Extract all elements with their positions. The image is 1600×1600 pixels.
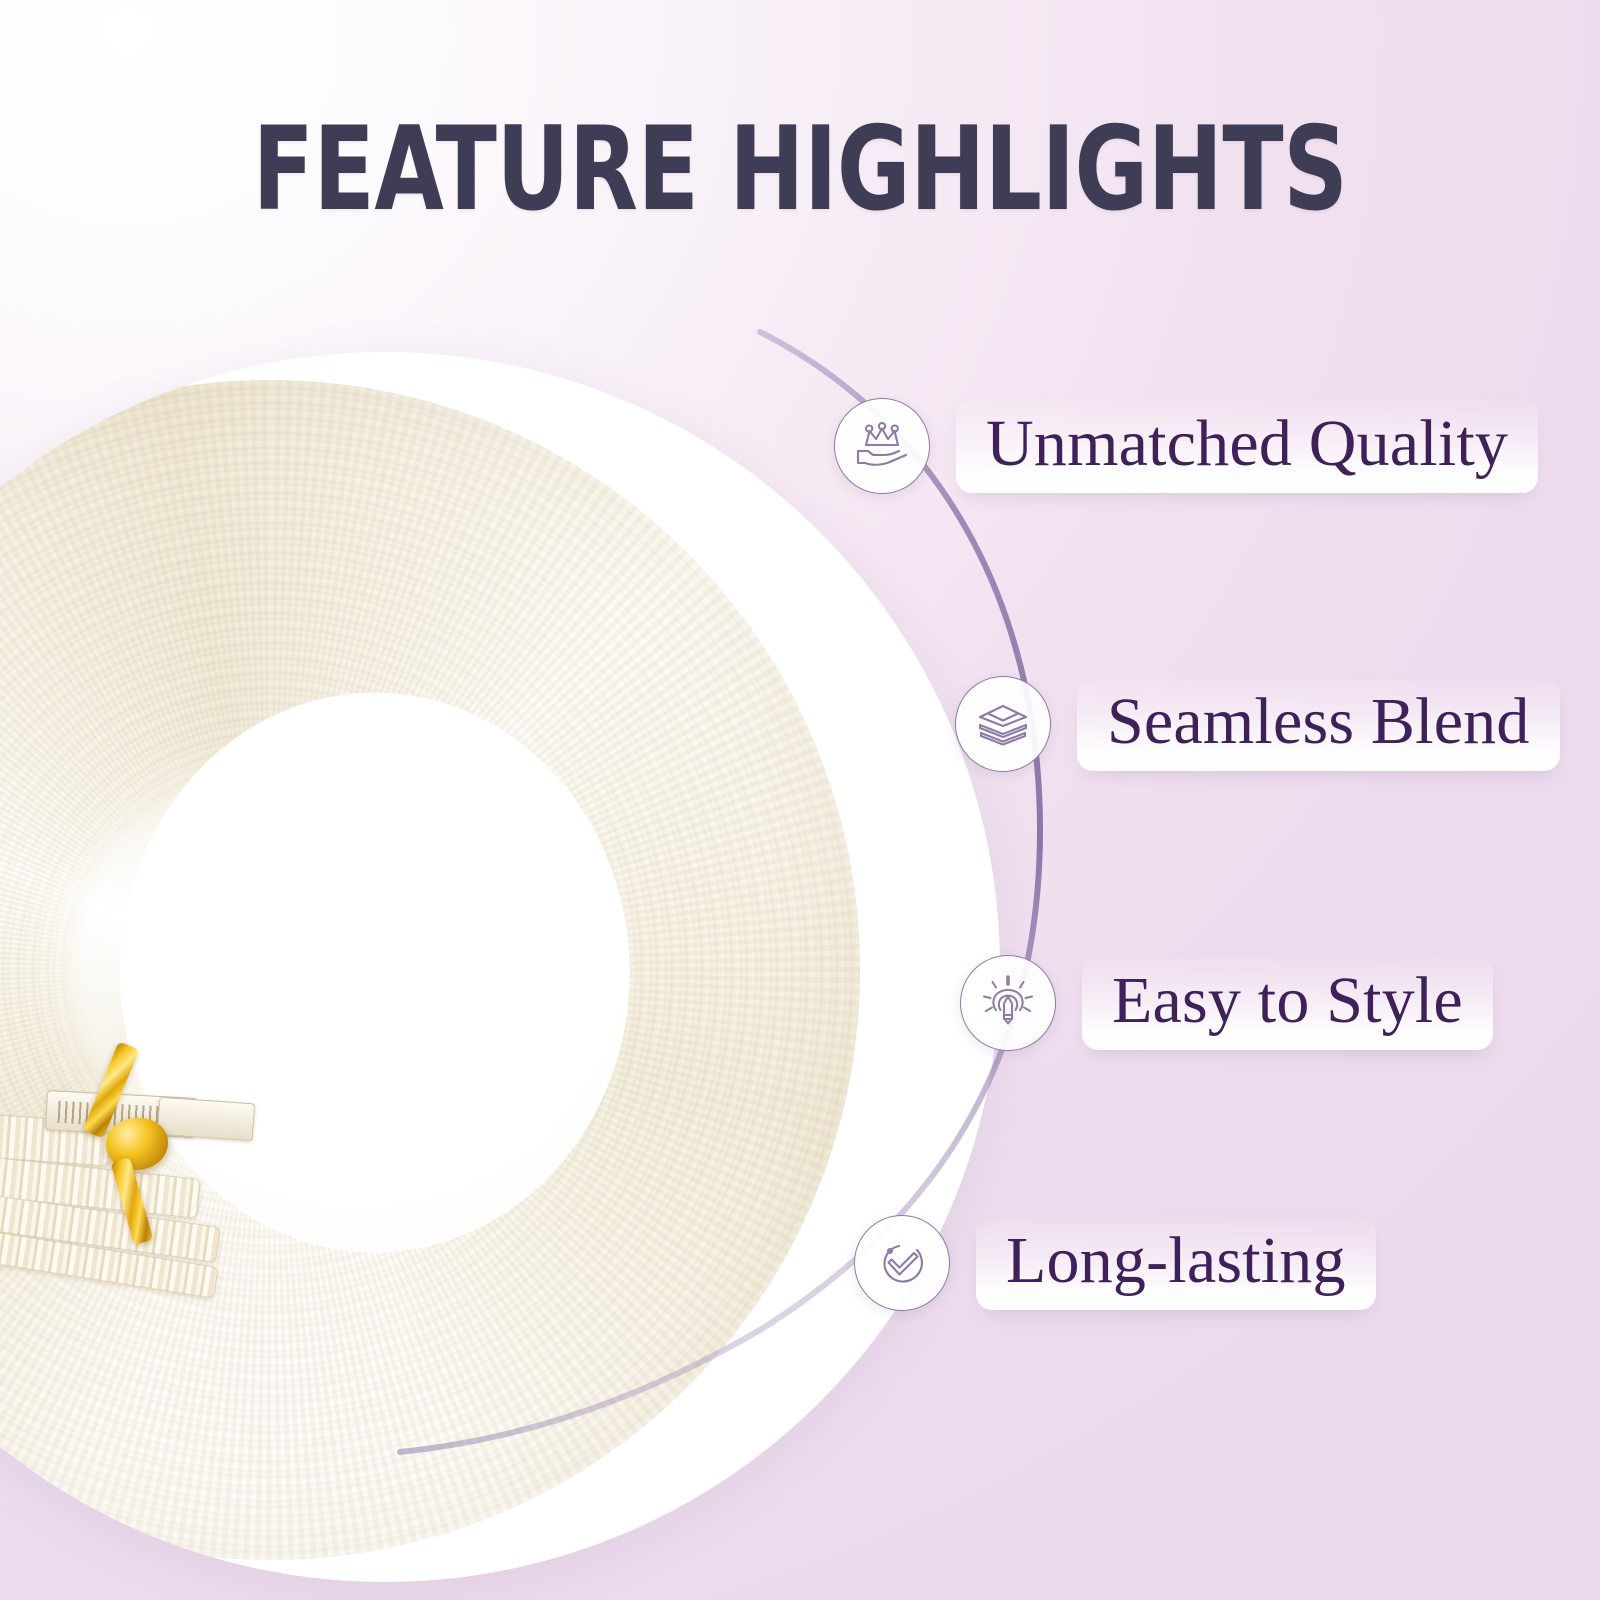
feature-item-seamless-blend[interactable]: Seamless Blend — [955, 676, 1560, 772]
feature-label-pill: Long-lasting — [976, 1216, 1376, 1310]
metal-clip — [157, 1097, 255, 1142]
feature-label: Seamless Blend — [1107, 685, 1530, 758]
feature-label: Long-lasting — [1006, 1224, 1346, 1297]
feature-item-easy-to-style[interactable]: Easy to Style — [960, 955, 1493, 1051]
lightbulb-pencil-icon — [960, 955, 1056, 1051]
layers-stack-icon — [955, 676, 1051, 772]
product-image — [0, 352, 1000, 1582]
feature-label-pill: Seamless Blend — [1077, 677, 1560, 771]
feature-item-long-lasting[interactable]: Long-lasting — [854, 1215, 1376, 1311]
page-title: FEATURE HIGHLIGHTS — [112, 112, 1488, 228]
feature-label: Easy to Style — [1112, 964, 1463, 1037]
feature-label: Unmatched Quality — [986, 407, 1508, 480]
infographic-canvas: FEATURE HIGHLIGHTS — [0, 0, 1600, 1600]
crown-in-hand-icon — [834, 398, 930, 494]
hair-coil-center — [120, 693, 630, 1253]
feature-label-pill: Unmatched Quality — [956, 399, 1538, 493]
feature-item-unmatched-quality[interactable]: Unmatched Quality — [834, 398, 1538, 494]
feature-label-pill: Easy to Style — [1082, 956, 1493, 1050]
check-circle-icon — [854, 1215, 950, 1311]
